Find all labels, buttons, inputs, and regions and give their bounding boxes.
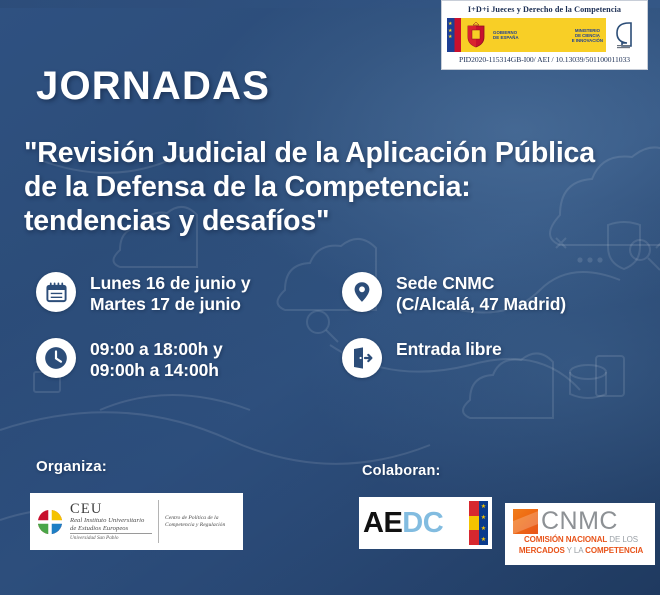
page-title: "Revisión Judicial de la Aplicación Públ… xyxy=(24,136,649,238)
ceu-divider xyxy=(158,500,159,543)
organiza-label: Organiza: xyxy=(36,458,107,475)
spain-coat-of-arms-icon xyxy=(461,18,491,52)
detail-dates-text: Lunes 16 de junio y Martes 17 de junio xyxy=(90,272,251,315)
aei-logo-svg xyxy=(613,20,637,50)
title-line-3: tendencias y desafíos" xyxy=(24,204,649,238)
funding-logo-block: I+D+i Jueces y Derecho de la Competencia… xyxy=(441,0,648,70)
cnmc-logo: CNMC COMISIÓN NACIONAL DE LOS MERCADOS Y… xyxy=(505,503,655,565)
ministry-logo-bar: ★★★ GOBIERNO DE ESPAÑA MINISTERIO xyxy=(447,18,642,52)
detail-venue: Sede CNMC (C/Alcalá, 47 Madrid) xyxy=(342,272,566,315)
eu-star-band-icon: ★★★★ xyxy=(479,501,488,545)
event-poster: I+D+i Jueces y Derecho de la Competencia… xyxy=(0,0,660,595)
spain-flag-icon: ★★★ xyxy=(447,18,461,52)
gobierno-text: GOBIERNO DE ESPAÑA xyxy=(491,18,569,52)
aedc-logo: AEDC ★★★★ xyxy=(359,497,492,549)
page-kicker: JORNADAS xyxy=(36,64,270,109)
cnmc-tagline-line2: MERCADOS Y LA COMPETENCIA xyxy=(513,546,649,556)
gobierno-de-espana-logo: ★★★ GOBIERNO DE ESPAÑA MINISTERIO xyxy=(447,18,606,52)
detail-schedule: 09:00 a 18:00h y 09:00h a 14:00h xyxy=(36,338,223,381)
detail-admission-text: Entrada libre xyxy=(396,338,502,378)
cnmc-tagline-1b: DE LOS xyxy=(607,535,638,544)
ceu-text-block: CEU Real Instituto Universitario de Estu… xyxy=(70,502,152,541)
cnmc-tagline-2c: COMPETENCIA xyxy=(585,546,643,555)
aedc-letters-dark: AE xyxy=(363,507,402,539)
flag-bands: ★★★★ xyxy=(469,501,488,545)
venue-line-1: Sede CNMC xyxy=(396,273,566,294)
clock-icon-svg xyxy=(43,345,69,371)
cnmc-wordmark: CNMC xyxy=(513,509,649,534)
door-entry-icon xyxy=(342,338,382,378)
ceu-center-line1: Centro de Política de la xyxy=(165,515,236,522)
cnmc-word: CNMC xyxy=(541,509,618,534)
schedule-line-2: 09:00h a 14:00h xyxy=(90,360,223,381)
cnmc-square-icon xyxy=(513,509,538,534)
flag-stripe-red-top xyxy=(469,501,479,516)
cnmc-tagline-line1: COMISIÓN NACIONAL DE LOS xyxy=(513,535,649,545)
ceu-university: Universidad San Pablo xyxy=(70,533,152,541)
project-code: PID2020-115314GB-I00/ AEI / 10.13039/501… xyxy=(447,55,642,64)
ceu-logo: CEU Real Instituto Universitario de Estu… xyxy=(30,493,243,550)
gobierno-line2: DE ESPAÑA xyxy=(493,35,569,40)
spain-eu-flag-icon: ★★★★ xyxy=(469,501,488,545)
funding-project-title: I+D+i Jueces y Derecho de la Competencia xyxy=(447,5,642,14)
eu-stars-icon: ★★★ xyxy=(448,21,452,41)
detail-venue-text: Sede CNMC (C/Alcalá, 47 Madrid) xyxy=(396,272,566,315)
ceu-center-name: Centro de Política de la Competencia y R… xyxy=(165,515,236,529)
admission-line-1: Entrada libre xyxy=(396,339,502,360)
cnmc-tagline-1a: COMISIÓN NACIONAL xyxy=(524,535,607,544)
ceu-subtitle: Real Instituto Universitario de Estudios… xyxy=(70,517,152,532)
flag-stripe-yellow xyxy=(469,516,479,531)
location-pin-icon xyxy=(342,272,382,312)
ceu-name: CEU xyxy=(70,502,152,517)
calendar-icon-svg xyxy=(45,281,68,304)
ministerio-line3: E INNOVACIÓN xyxy=(572,38,603,43)
ministerio-text: MINISTERIO DE CIENCIA E INNOVACIÓN xyxy=(569,18,606,52)
ceu-emblem-icon xyxy=(37,509,63,535)
flag-stripe-red-bottom xyxy=(469,530,479,545)
calendar-icon xyxy=(36,272,76,312)
clock-icon xyxy=(36,338,76,378)
detail-dates: Lunes 16 de junio y Martes 17 de junio xyxy=(36,272,251,315)
schedule-line-1: 09:00 a 18:00h y xyxy=(90,339,223,360)
ceu-subtitle-line2: de Estudios Europeos xyxy=(70,525,152,533)
dates-line-1: Lunes 16 de junio y xyxy=(90,273,251,294)
detail-schedule-text: 09:00 a 18:00h y 09:00h a 14:00h xyxy=(90,338,223,381)
door-entry-icon-svg xyxy=(350,346,374,370)
venue-line-2: (C/Alcalá, 47 Madrid) xyxy=(396,294,566,315)
dates-line-2: Martes 17 de junio xyxy=(90,294,251,315)
spain-flag-stripes xyxy=(469,501,479,545)
coat-of-arms-svg xyxy=(465,22,487,48)
aei-logo xyxy=(606,18,642,52)
ceu-center-line2: Competencia y Regulación xyxy=(165,522,236,529)
aedc-letters-light: DC xyxy=(402,507,443,539)
cnmc-tagline-2b: Y LA xyxy=(565,546,585,555)
title-line-1: "Revisión Judicial de la Aplicación Públ… xyxy=(24,136,649,170)
title-line-2: de la Defensa de la Competencia: xyxy=(24,170,649,204)
cnmc-tagline-2a: MERCADOS xyxy=(519,546,565,555)
ceu-subtitle-line1: Real Instituto Universitario xyxy=(70,517,152,525)
colaboran-label: Colaboran: xyxy=(362,463,441,479)
aedc-letters: AEDC xyxy=(363,507,469,540)
detail-admission: Entrada libre xyxy=(342,338,502,378)
location-pin-icon-svg xyxy=(350,280,374,304)
